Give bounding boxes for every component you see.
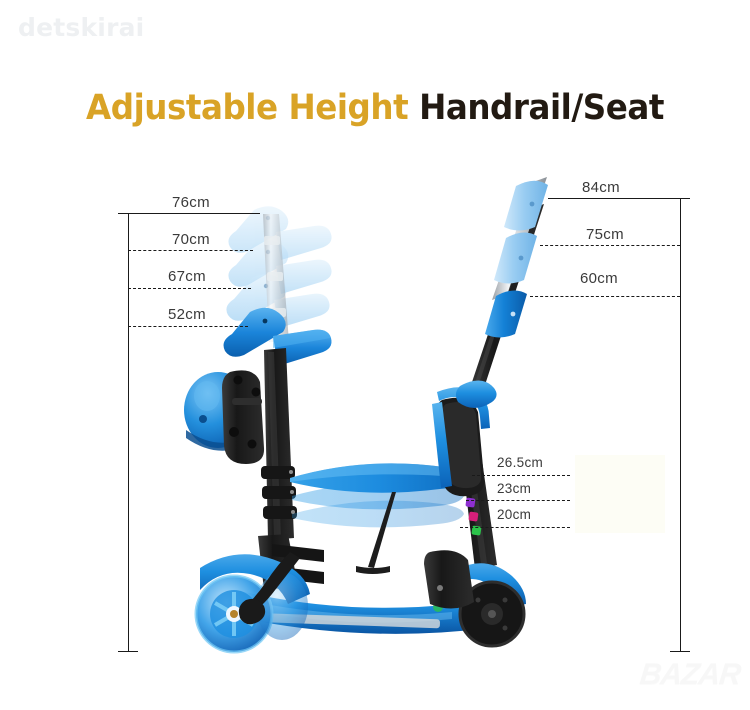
label-70cm: 70cm <box>172 231 210 248</box>
label-60cm: 60cm <box>580 270 618 287</box>
leader-75 <box>540 245 680 246</box>
leader-67 <box>128 288 251 289</box>
leader-20 <box>460 527 570 528</box>
push-handle-sleeve-75 <box>494 232 537 283</box>
leader-60 <box>530 296 680 297</box>
scooter-illustration <box>0 0 750 710</box>
label-23cm: 23cm <box>497 481 531 496</box>
leader-26-5 <box>472 475 570 476</box>
left-dimension-axis <box>128 213 129 651</box>
label-52cm: 52cm <box>168 306 206 323</box>
label-67cm: 67cm <box>168 268 206 285</box>
label-84cm: 84cm <box>582 179 620 196</box>
ground-line-left <box>118 651 138 652</box>
rear-mount-block <box>424 550 474 608</box>
leader-84 <box>548 198 680 199</box>
label-20cm: 20cm <box>497 507 531 522</box>
right-dimension-axis <box>680 198 681 651</box>
leader-52 <box>128 326 248 327</box>
product-image: detskirai BAZAR Adjustable Height Handra… <box>0 0 750 710</box>
helmet-bracket <box>222 370 264 464</box>
leader-76 <box>128 213 260 214</box>
label-26-5cm: 26.5cm <box>497 455 543 470</box>
push-handle-clamp <box>456 380 497 408</box>
label-76cm: 76cm <box>172 194 210 211</box>
push-handle-sleeve-60 <box>485 290 527 337</box>
label-75cm: 75cm <box>586 226 624 243</box>
ground-line-right <box>670 651 690 652</box>
leader-70 <box>128 250 253 251</box>
push-handle-sleeve-84 <box>504 181 548 231</box>
leader-23 <box>466 500 570 501</box>
